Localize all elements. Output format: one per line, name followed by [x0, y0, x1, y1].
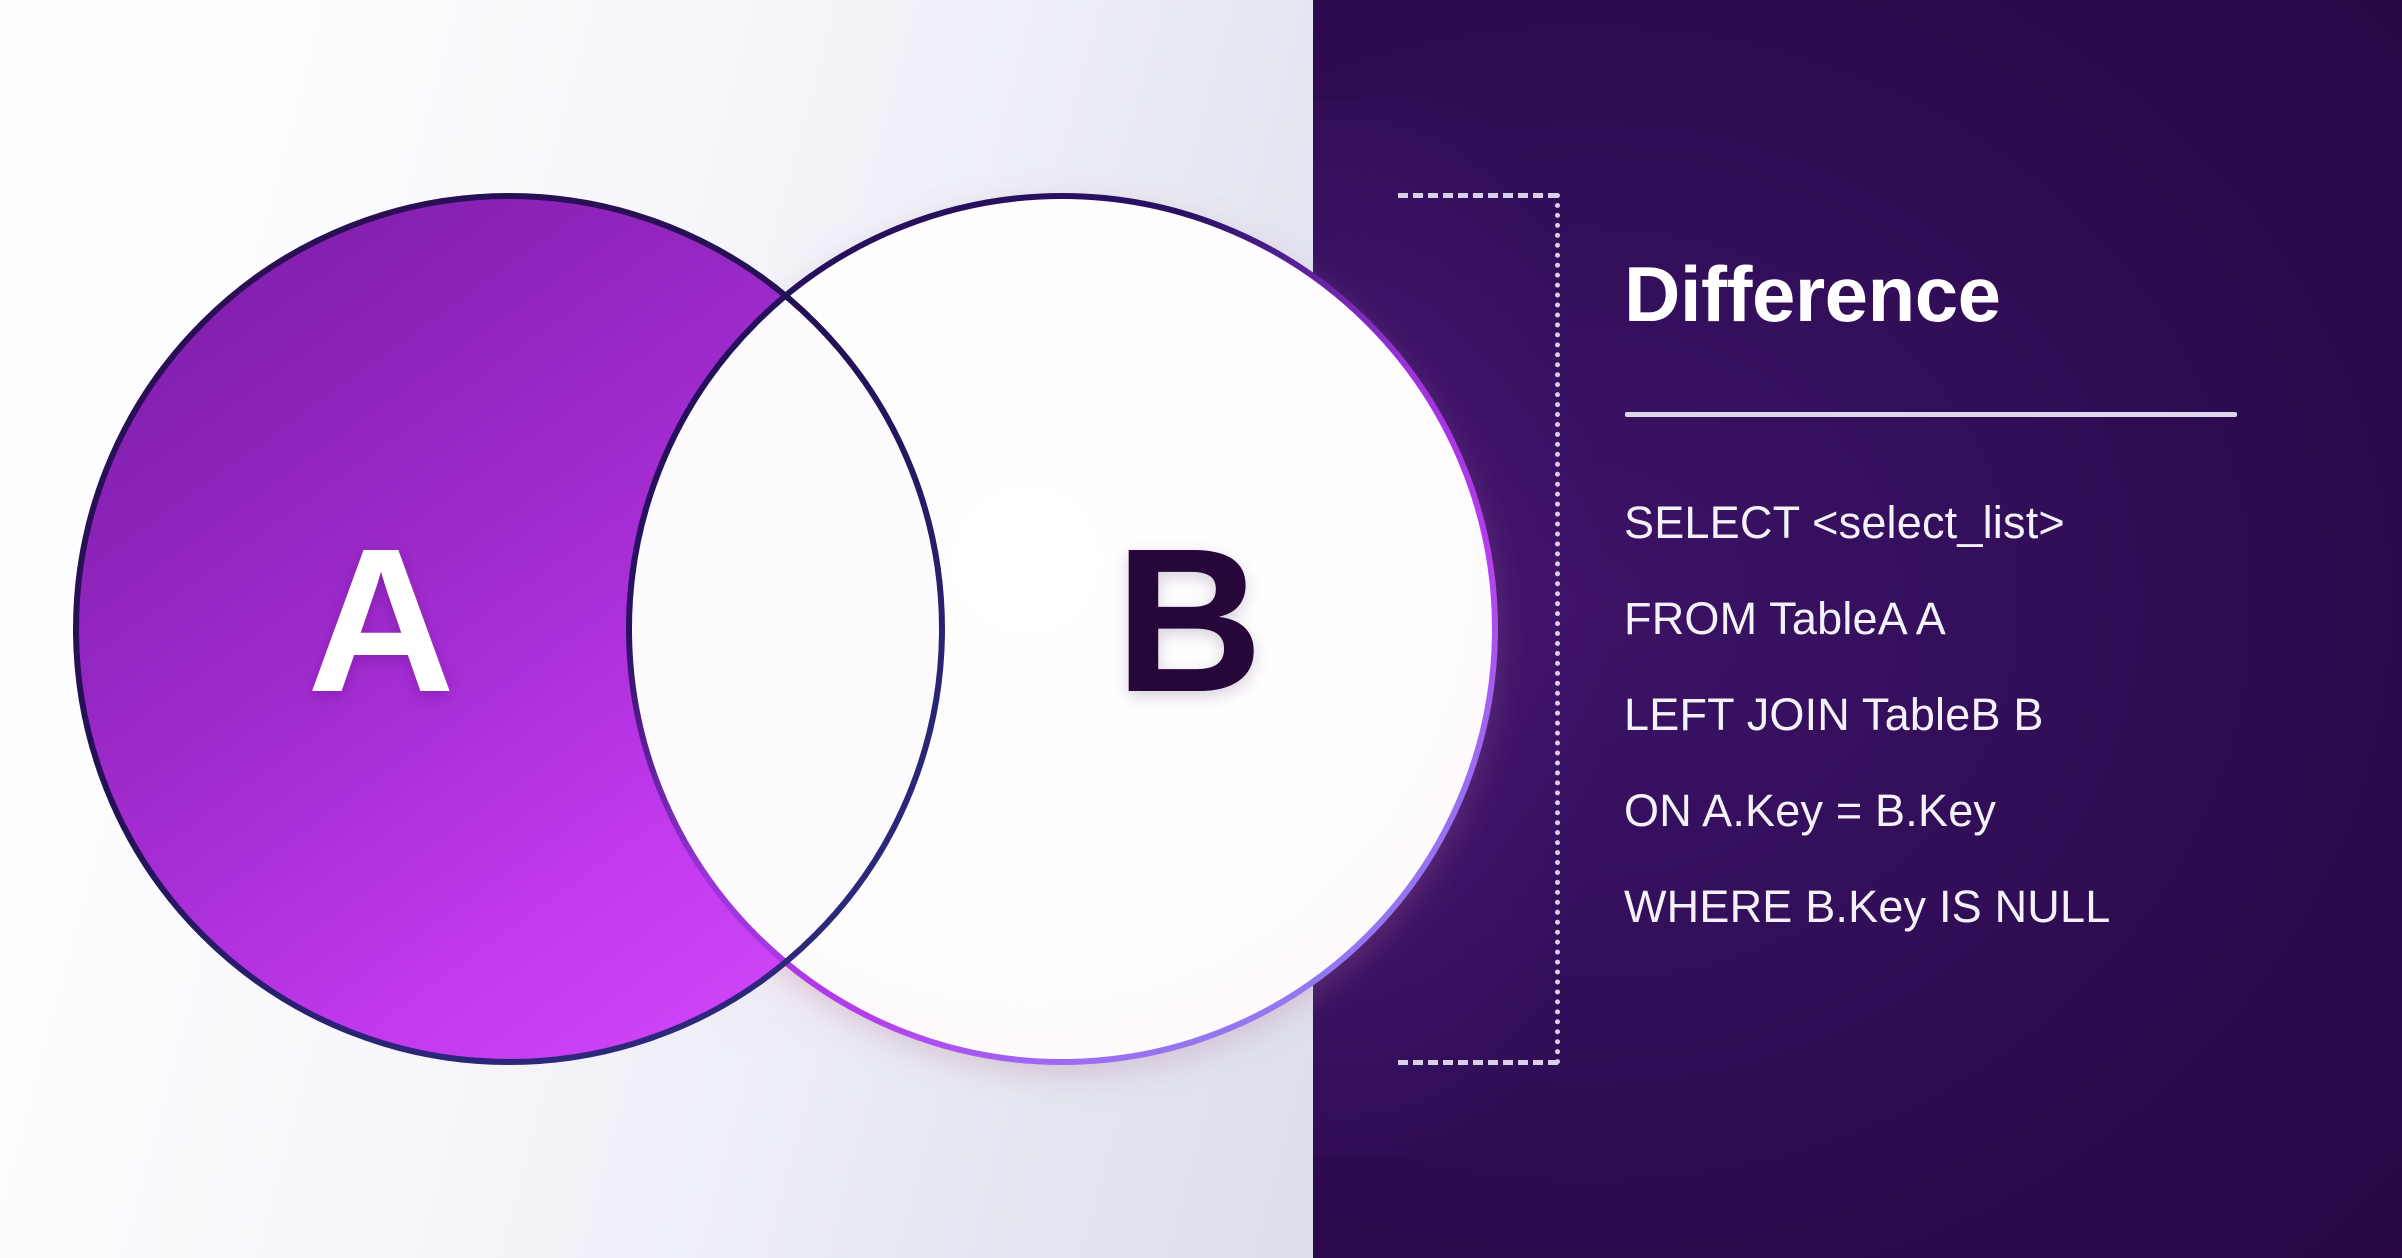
venn-label-b: B — [1108, 518, 1268, 723]
bracket-arm-top — [1398, 193, 1558, 198]
venn-label-a: A — [300, 518, 460, 723]
dotted-bracket — [1398, 193, 1560, 1065]
sql-line: LEFT JOIN TableB B — [1624, 692, 2324, 737]
title-divider — [1625, 412, 2237, 417]
sql-query-block: SELECT <select_list> FROM TableA A LEFT … — [1624, 500, 2324, 929]
venn-diagram-slide: A B Difference SELECT <select_list> FROM… — [0, 0, 2402, 1258]
panel-title: Difference — [1624, 255, 2000, 333]
sql-line: ON A.Key = B.Key — [1624, 788, 2324, 833]
sql-line: FROM TableA A — [1624, 596, 2324, 641]
venn-diagram-area: A B — [0, 0, 1620, 1258]
venn-svg — [0, 0, 1620, 1258]
sql-line: WHERE B.Key IS NULL — [1624, 884, 2324, 929]
bracket-arm-bottom — [1398, 1060, 1558, 1065]
info-panel: Difference SELECT <select_list> FROM Tab… — [1624, 0, 2324, 1258]
bracket-spine — [1555, 193, 1560, 1065]
sql-line: SELECT <select_list> — [1624, 500, 2324, 545]
